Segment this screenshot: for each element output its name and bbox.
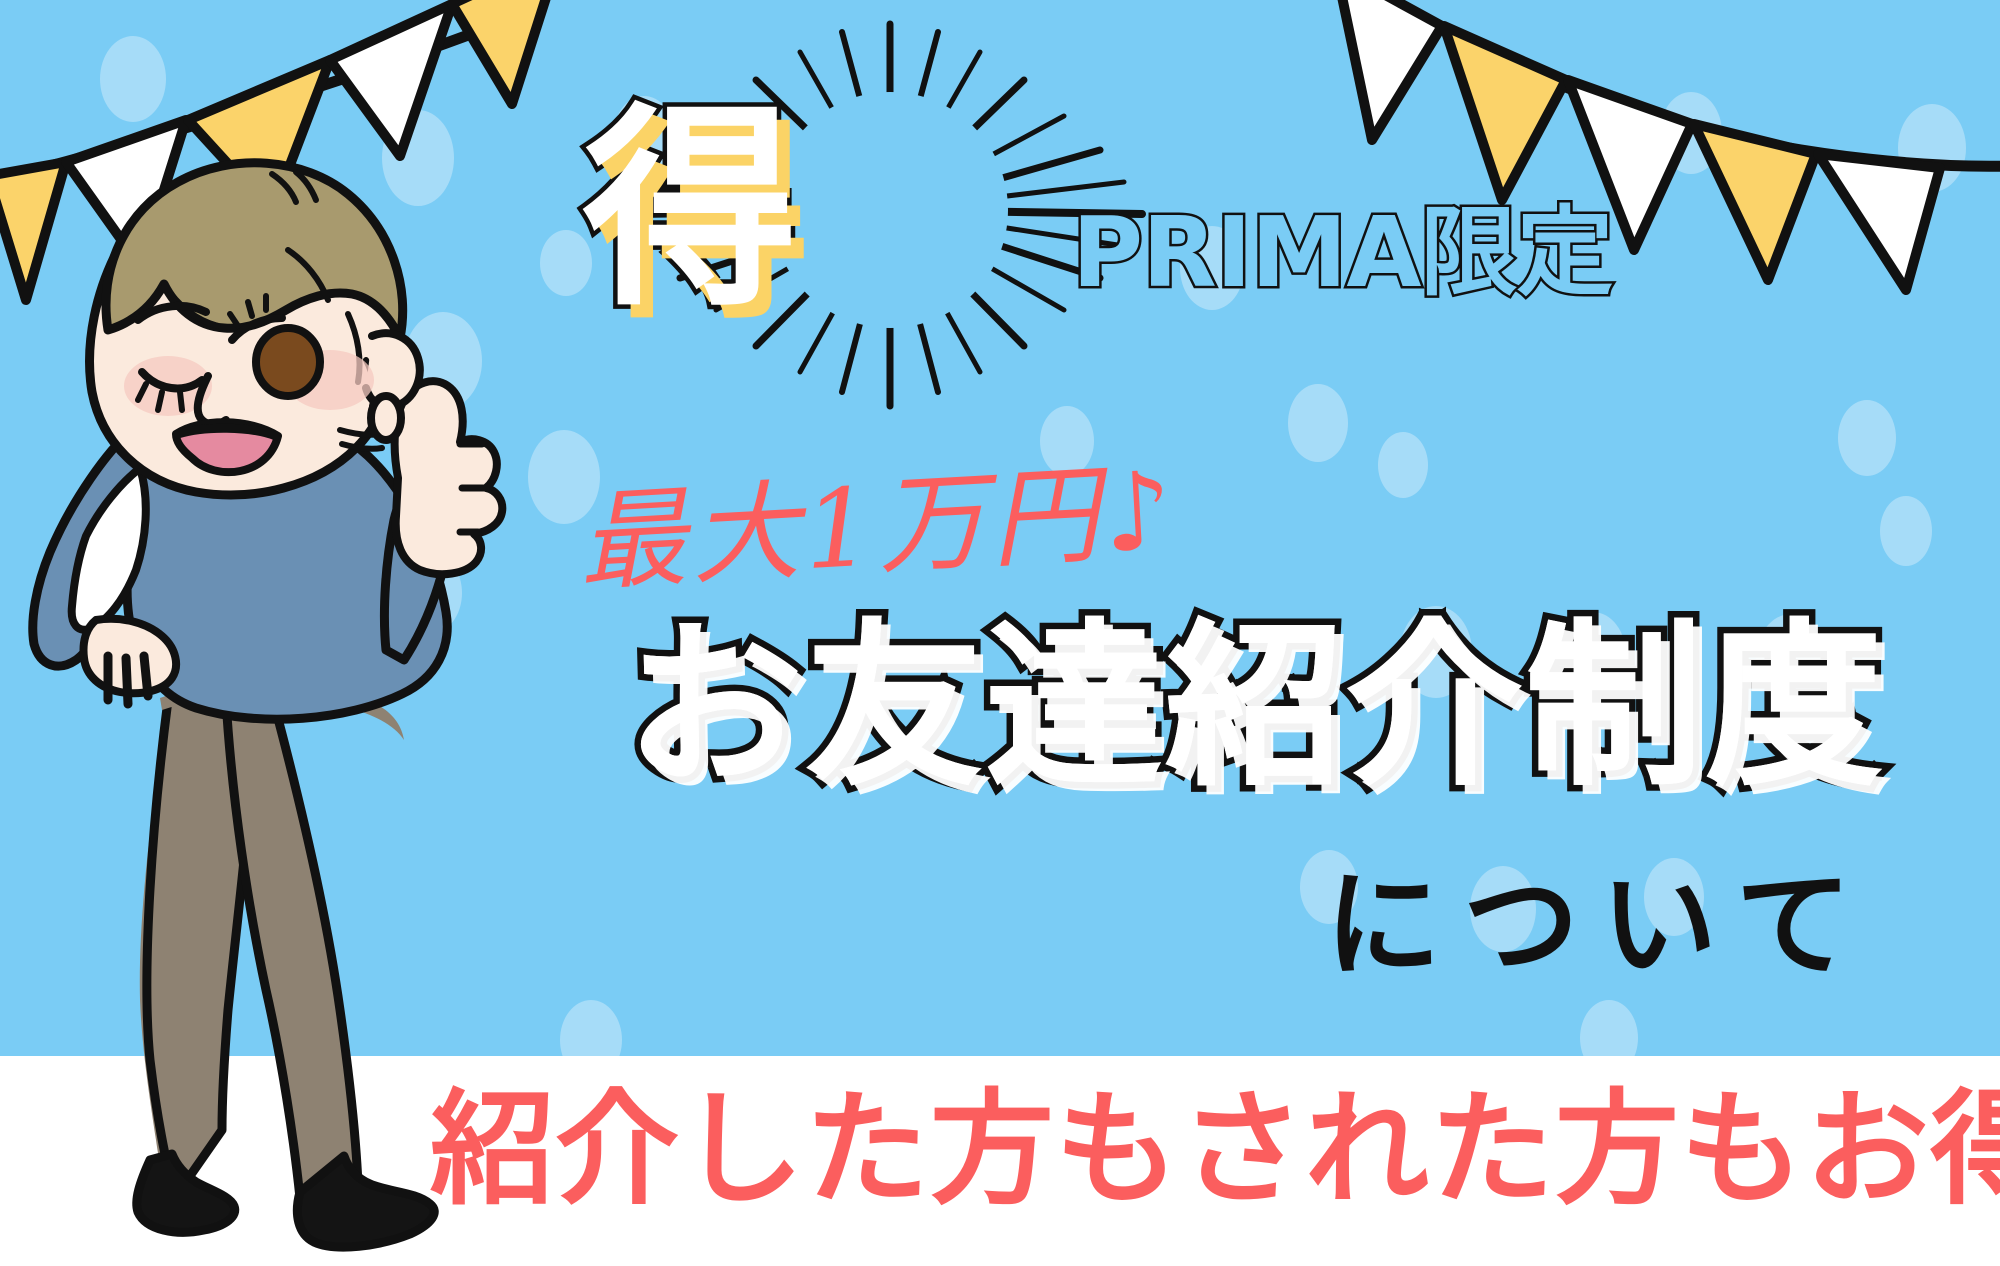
page-title-suffix: について [1325,862,1874,990]
page-title: お友達紹介制度 [625,612,1885,802]
flag-white-3 [1336,0,1442,140]
toku-badge-kanji: 得 [565,95,815,345]
flag-yellow-5 [1694,124,1816,280]
prima-limited-label: PRIMA限定 [1072,198,1612,308]
footer-tagline: 紹介した方もされた方もお得！ [430,1082,2000,1218]
character-illustration [0,100,560,1266]
flag-yellow-3 [452,0,560,104]
flag-yellow-4 [1444,26,1566,200]
flag-white-5 [1818,154,1940,290]
banner-canvas: 得 PRIMA限定 最大1万円♪ お友達紹介制度 お友達紹介制度 について 紹介… [0,0,2000,1266]
